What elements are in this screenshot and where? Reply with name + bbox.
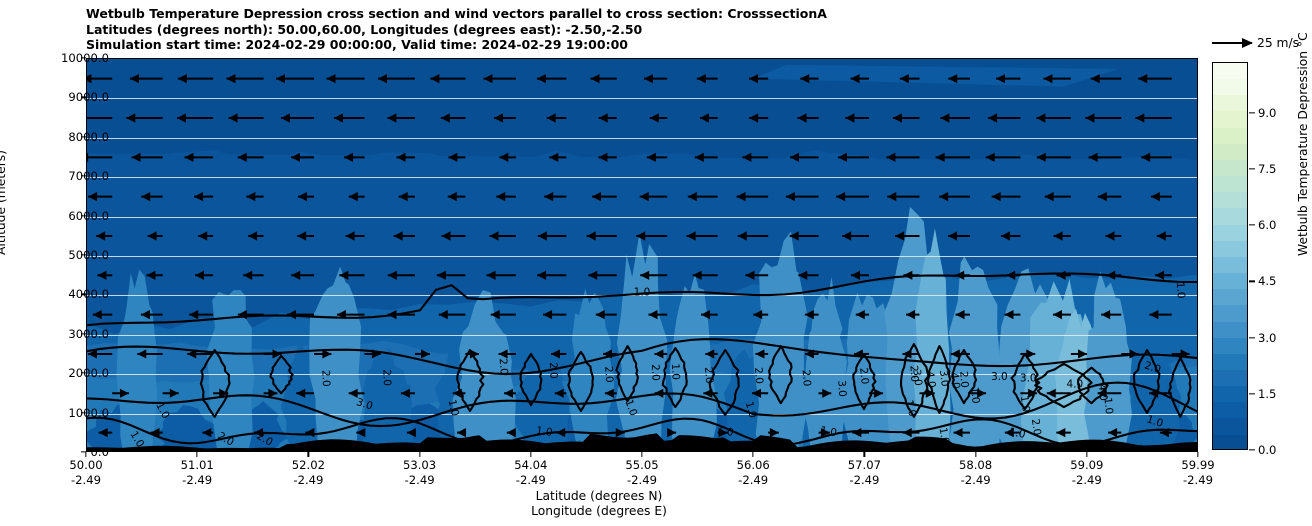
colorbar-tick-mark [1249, 224, 1255, 225]
x-tick-mark [1086, 452, 1087, 457]
x-tick-mark [641, 452, 642, 457]
colorbar-tick-label: 0.0 [1258, 443, 1276, 457]
x-tick-latitude: 59.09 [1070, 458, 1103, 473]
orography-silhouette [87, 59, 1197, 452]
colorbar-label: Wetbulb Temperature Depression °C [1296, 32, 1310, 256]
colorbar-segment [1213, 225, 1247, 241]
colorbar-tick-mark [1249, 168, 1255, 169]
y-tick-label: 0.0 [91, 445, 109, 459]
colorbar-segment [1213, 370, 1247, 386]
y-tick-label: 9000.0 [68, 90, 109, 104]
x-tick-mark [530, 452, 531, 457]
x-tick-latitude: 55.05 [625, 458, 658, 473]
colorbar-tick-label: 4.5 [1258, 274, 1276, 288]
x-tick-label: 58.08-2.49 [959, 458, 992, 488]
cross-section-plot: 1.01.01.01.01.01.01.01.01.01.01.01.01.01… [86, 58, 1198, 452]
colorbar-segment [1213, 257, 1247, 273]
colorbar-segment [1213, 273, 1247, 289]
title-line-2: Latitudes (degrees north): 50.00,60.00, … [86, 22, 1086, 38]
colorbar-segment [1213, 354, 1247, 370]
colorbar-segment [1213, 63, 1247, 79]
title-line-1: Wetbulb Temperature Depression cross sec… [86, 6, 1086, 22]
y-tick-label: 8000.0 [68, 130, 109, 144]
wind-key-arrow-icon [1212, 42, 1252, 44]
colorbar-segment [1213, 111, 1247, 127]
colorbar-tick-label: 6.0 [1258, 218, 1276, 232]
x-tick-mark [419, 452, 420, 457]
x-tick-longitude: -2.49 [181, 473, 214, 488]
colorbar-segment [1213, 95, 1247, 111]
x-tick-label: 55.05-2.49 [625, 458, 658, 488]
colorbar [1212, 62, 1248, 450]
x-tick-longitude: -2.49 [625, 473, 658, 488]
x-tick-longitude: -2.49 [292, 473, 325, 488]
x-tick-latitude: 53.03 [403, 458, 436, 473]
x-tick-latitude: 52.02 [292, 458, 325, 473]
colorbar-segment [1213, 144, 1247, 160]
colorbar-segment [1213, 322, 1247, 338]
x-tick-mark [85, 452, 86, 457]
x-tick-mark [308, 452, 309, 457]
x-tick-label: 59.99-2.49 [1181, 458, 1214, 488]
colorbar-segment [1213, 128, 1247, 144]
x-tick-latitude: 56.06 [737, 458, 770, 473]
x-axis-label-latitude: Latitude (degrees N) [0, 489, 1198, 503]
x-tick-latitude: 51.01 [181, 458, 214, 473]
colorbar-tick-label: 1.5 [1258, 387, 1276, 401]
y-tick-label: 1000.0 [68, 406, 109, 420]
x-tick-mark [197, 452, 198, 457]
colorbar-segment [1213, 305, 1247, 321]
colorbar-segment [1213, 418, 1247, 434]
x-tick-longitude: -2.49 [737, 473, 770, 488]
x-tick-label: 56.06-2.49 [737, 458, 770, 488]
colorbar-tick-label: 7.5 [1258, 162, 1276, 176]
x-tick-label: 51.01-2.49 [181, 458, 214, 488]
colorbar-tick-mark [1249, 393, 1255, 394]
colorbar-segment [1213, 160, 1247, 176]
colorbar-segment [1213, 241, 1247, 257]
colorbar-tick-mark [1249, 449, 1255, 450]
colorbar-tick-mark [1249, 337, 1255, 338]
x-tick-latitude: 50.00 [69, 458, 102, 473]
y-tick-label: 6000.0 [68, 209, 109, 223]
x-tick-longitude: -2.49 [848, 473, 881, 488]
x-tick-latitude: 54.04 [514, 458, 547, 473]
x-tick-longitude: -2.49 [959, 473, 992, 488]
chart-title-block: Wetbulb Temperature Depression cross sec… [86, 6, 1086, 53]
colorbar-segment [1213, 79, 1247, 95]
colorbar-tick-label: 3.0 [1258, 331, 1276, 345]
colorbar-segment [1213, 176, 1247, 192]
y-axis-label: Altitude (meters) [0, 150, 8, 255]
colorbar-segment [1213, 192, 1247, 208]
colorbar-segment [1213, 208, 1247, 224]
x-tick-latitude: 58.08 [959, 458, 992, 473]
x-tick-longitude: -2.49 [514, 473, 547, 488]
title-line-3: Simulation start time: 2024-02-29 00:00:… [86, 37, 1086, 53]
colorbar-tick-label: 9.0 [1258, 106, 1276, 120]
x-tick-mark [1197, 452, 1198, 457]
colorbar-segment [1213, 386, 1247, 402]
colorbar-segment [1213, 402, 1247, 418]
colorbar-segment [1213, 338, 1247, 354]
x-tick-mark [975, 452, 976, 457]
x-tick-latitude: 59.99 [1181, 458, 1214, 473]
wind-key-label: 25 m/s [1257, 36, 1299, 50]
wind-vector-key: 25 m/s [1212, 36, 1299, 50]
colorbar-tick-mark [1249, 281, 1255, 282]
x-tick-label: 59.09-2.49 [1070, 458, 1103, 488]
x-tick-longitude: -2.49 [403, 473, 436, 488]
x-tick-mark [753, 452, 754, 457]
x-tick-label: 52.02-2.49 [292, 458, 325, 488]
colorbar-tick-mark [1249, 112, 1255, 113]
x-tick-label: 50.00-2.49 [69, 458, 102, 488]
terrain-fill [87, 433, 1197, 452]
x-tick-mark [864, 452, 865, 457]
colorbar-segment [1213, 435, 1247, 450]
y-tick-label: 3000.0 [68, 327, 109, 341]
y-tick-label: 10000.0 [61, 51, 109, 65]
x-tick-longitude: -2.49 [1070, 473, 1103, 488]
x-axis-label-longitude: Longitude (degrees E) [0, 504, 1198, 518]
y-tick-label: 5000.0 [68, 248, 109, 262]
y-tick-label: 2000.0 [68, 366, 109, 380]
x-tick-label: 57.07-2.49 [848, 458, 881, 488]
x-tick-label: 53.03-2.49 [403, 458, 436, 488]
x-tick-label: 54.04-2.49 [514, 458, 547, 488]
x-tick-latitude: 57.07 [848, 458, 881, 473]
x-tick-longitude: -2.49 [1181, 473, 1214, 488]
x-tick-longitude: -2.49 [69, 473, 102, 488]
y-tick-label: 4000.0 [68, 287, 109, 301]
colorbar-segment [1213, 289, 1247, 305]
y-tick-label: 7000.0 [68, 169, 109, 183]
